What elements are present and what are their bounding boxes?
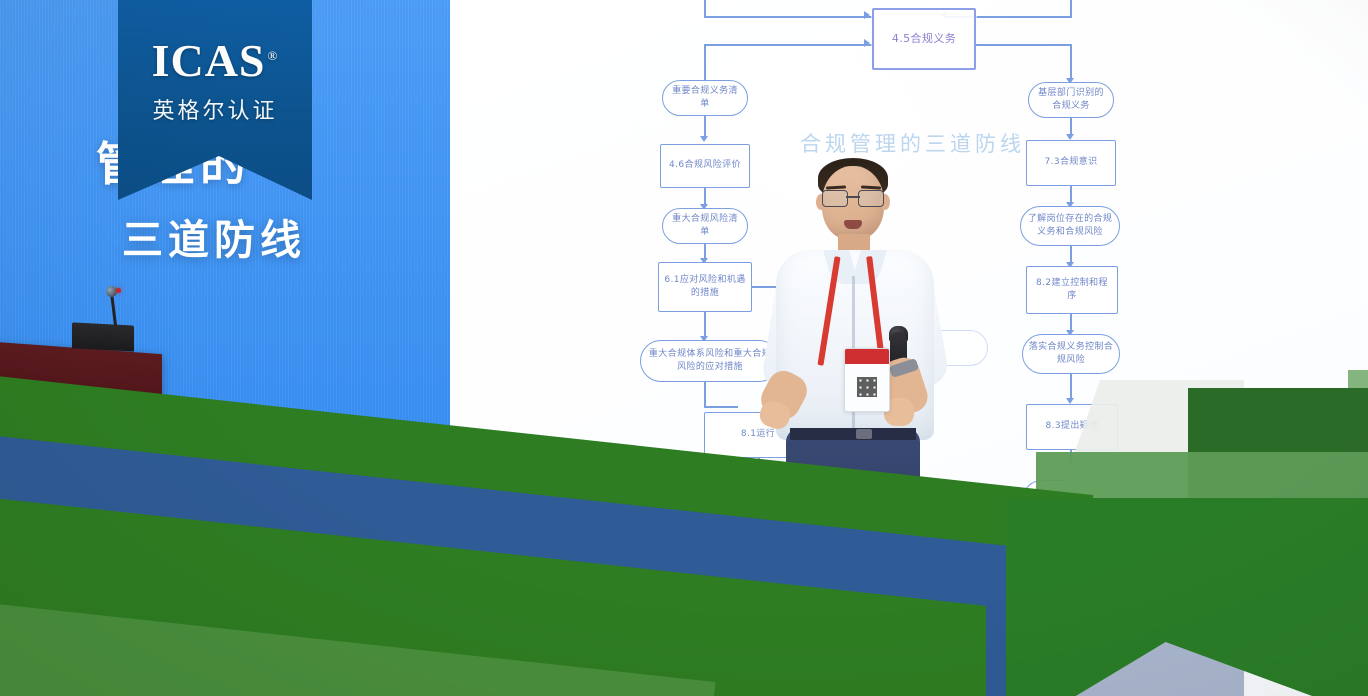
arrow-icon (1066, 472, 1074, 478)
speaker-glasses-bridge (846, 196, 860, 198)
audience-head (1000, 548, 1056, 600)
icas-logo-text: ICAS (152, 35, 266, 86)
flow-node-right-2: 7.3合规意识 (1026, 140, 1116, 186)
connector (1070, 374, 1072, 400)
flow-node-right-5: 落实合规义务控制合规风险 (1022, 334, 1120, 374)
flow-node-hub: 4.5合规义务 (872, 8, 976, 70)
flow-node-right-6: 8.3提出疑虑 (1026, 404, 1118, 450)
arrow-icon (700, 136, 708, 142)
podium-console (72, 322, 134, 351)
connector (1070, 44, 1072, 80)
icas-logo-subtitle: 英格尔认证 (118, 93, 312, 125)
connector (704, 382, 706, 408)
connector (704, 312, 706, 338)
connector (1070, 450, 1072, 474)
qr-code-icon (857, 377, 877, 397)
connector (704, 16, 874, 18)
arrow-icon (1066, 544, 1074, 550)
flow-node-left-4: 6.1应对风险和机遇的措施 (658, 262, 752, 312)
connector (1070, 520, 1072, 546)
flow-node-right-1: 基层部门识别的合规义务 (1028, 82, 1114, 118)
arrow-icon (864, 39, 870, 47)
speaker-person (760, 150, 990, 620)
speaker-glasses-icon (822, 190, 884, 206)
connector (704, 406, 738, 408)
connector (704, 116, 706, 138)
audience-shoulder (986, 596, 1082, 656)
registered-trademark-icon: ® (268, 48, 279, 63)
badge-header-bar (845, 349, 889, 364)
presentation-photo: 管理的 三道防线 ICAS® 英格尔认证 合规管理的三道防线 4.5合规义务 重… (0, 0, 1368, 696)
conference-badge (844, 348, 890, 412)
speaker-belt-buckle (856, 429, 872, 439)
flow-node-right-3: 了解岗位存在的合规义务和合规风险 (1020, 206, 1120, 246)
flow-node-right-7: 疑似不合规 (1022, 480, 1122, 520)
flow-node-left-3: 重大合规风险清单 (662, 208, 748, 244)
flow-node-left-2: 4.6合规风险评价 (660, 144, 750, 188)
speaker-belt (790, 428, 916, 440)
flow-node-left-1: 重要合规义务清单 (662, 80, 748, 116)
speaker-trouser-gap (846, 486, 856, 624)
connector (976, 44, 1072, 46)
audience-head (630, 536, 690, 590)
flow-node-left-5: 重大合规体系风险和重大合规风险的应对措施 (640, 340, 780, 382)
connector (1070, 0, 1072, 16)
podium (0, 342, 162, 454)
podium-indicator-light (116, 288, 121, 293)
flow-node-right-4: 8.2建立控制和程序 (1026, 266, 1118, 314)
arrow-icon (864, 11, 870, 19)
speaker-mouth (844, 220, 862, 229)
icas-logo: ICAS® (152, 38, 279, 84)
backdrop-headline-line2: 三道防线 (122, 206, 442, 266)
connector (704, 44, 874, 46)
